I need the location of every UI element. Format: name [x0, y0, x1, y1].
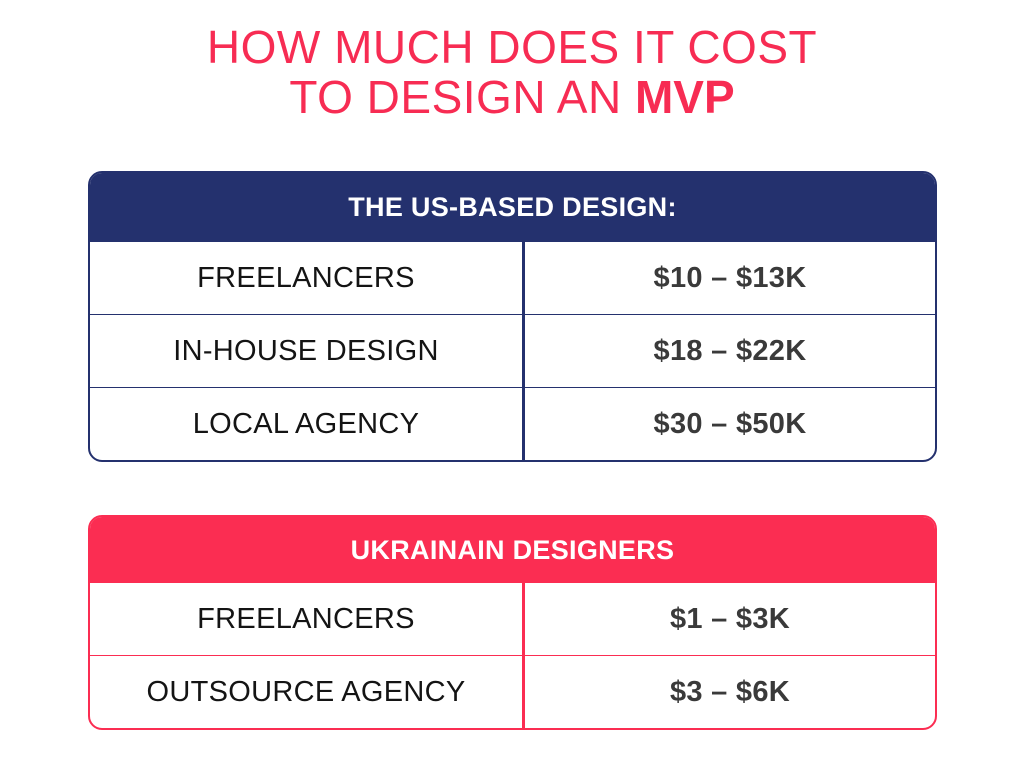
table-body-us-based-design: FREELANCERS $10 – $13K IN-HOUSE DESIGN $…: [90, 242, 935, 460]
row-label: OUTSOURCE AGENCY: [90, 656, 522, 728]
table-row: IN-HOUSE DESIGN $18 – $22K: [90, 314, 935, 387]
title-line-2-prefix: TO DESIGN AN: [289, 71, 635, 123]
table-row: FREELANCERS $10 – $13K: [90, 242, 935, 314]
row-value: $30 – $50K: [522, 388, 935, 460]
table-row: OUTSOURCE AGENCY $3 – $6K: [90, 655, 935, 728]
table-card-ukrainain-designers: UKRAINAIN DESIGNERS FREELANCERS $1 – $3K…: [88, 515, 937, 730]
table-card-us-based-design: THE US-BASED DESIGN: FREELANCERS $10 – $…: [88, 171, 937, 462]
row-label: LOCAL AGENCY: [90, 388, 522, 460]
title-line-1: HOW MUCH DOES IT COST: [0, 22, 1024, 72]
row-label: FREELANCERS: [90, 583, 522, 655]
table-header-us-based-design: THE US-BASED DESIGN:: [90, 173, 935, 242]
row-label: FREELANCERS: [90, 242, 522, 314]
table-header-ukrainain-designers: UKRAINAIN DESIGNERS: [90, 517, 935, 583]
page-title: HOW MUCH DOES IT COST TO DESIGN AN MVP: [0, 22, 1024, 122]
row-value: $1 – $3K: [522, 583, 935, 655]
table-body-ukrainain-designers: FREELANCERS $1 – $3K OUTSOURCE AGENCY $3…: [90, 583, 935, 728]
table-row: LOCAL AGENCY $30 – $50K: [90, 387, 935, 460]
row-label: IN-HOUSE DESIGN: [90, 315, 522, 387]
row-value: $18 – $22K: [522, 315, 935, 387]
title-line-2: TO DESIGN AN MVP: [0, 72, 1024, 122]
row-value: $3 – $6K: [522, 656, 935, 728]
row-value: $10 – $13K: [522, 242, 935, 314]
title-line-2-emphasis: MVP: [635, 71, 735, 123]
table-row: FREELANCERS $1 – $3K: [90, 583, 935, 655]
